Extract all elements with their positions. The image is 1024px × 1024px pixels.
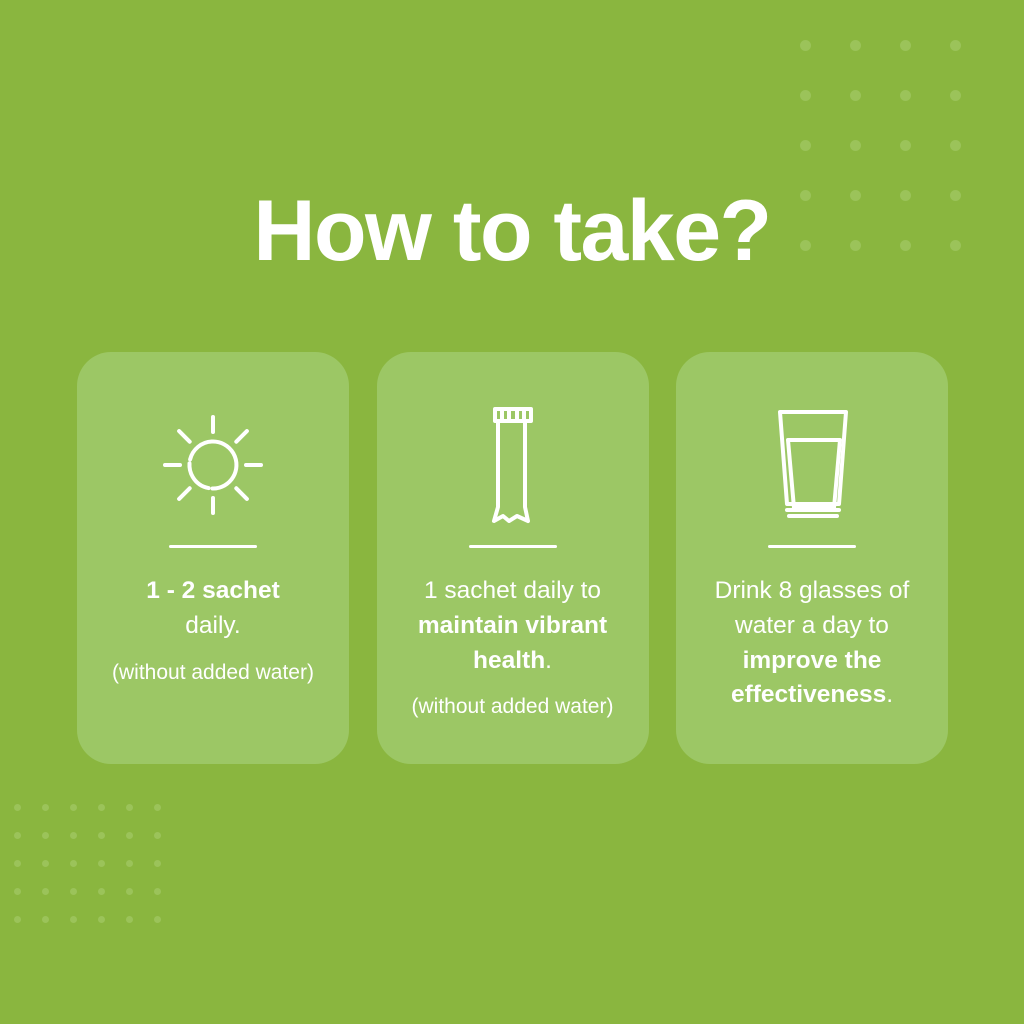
card-2-line1: 1 sachet daily to [424,577,601,604]
decorative-dot [950,140,961,151]
dot-grid-bottom-left [14,804,204,944]
decorative-dot [800,90,811,101]
decorative-dot [42,804,49,811]
page-title: How to take? [0,186,1024,276]
decorative-dot [126,860,133,867]
decorative-dot [900,140,911,151]
decorative-dot [42,916,49,923]
decorative-dot [42,860,49,867]
decorative-dot [70,888,77,895]
decorative-dot [14,888,21,895]
sun-icon [161,392,265,537]
card-3-text: Drink 8 glasses of water a day to improv… [676,574,948,713]
decorative-dot [950,40,961,51]
decorative-dot [98,888,105,895]
decorative-dot [42,832,49,839]
instruction-cards: 1 - 2 sachet daily. (without added water… [77,352,948,764]
decorative-dot [850,140,861,151]
card-1-line2: daily. [185,612,240,639]
decorative-dot [98,916,105,923]
decorative-dot [126,888,133,895]
decorative-dot [154,916,161,923]
decorative-dot [800,40,811,51]
decorative-dot [126,916,133,923]
decorative-dot [900,90,911,101]
card-3-line1: Drink 8 glasses of water a day to [715,577,910,639]
card-1-line1: 1 - 2 sachet [146,577,279,604]
instruction-card-1[interactable]: 1 - 2 sachet daily. (without added water… [77,352,349,764]
card-1-note: (without added water) [106,658,320,687]
card-2-note: (without added water) [406,692,620,721]
card-divider [768,545,856,548]
decorative-dot [900,40,911,51]
decorative-dot [14,916,21,923]
decorative-dot [126,832,133,839]
card-3-line2-tail: . [886,681,893,708]
card-2-text: 1 sachet daily to maintain vibrant healt… [377,574,649,678]
decorative-dot [850,40,861,51]
card-divider [469,545,557,548]
decorative-dot [98,832,105,839]
decorative-dot [800,140,811,151]
instruction-card-3[interactable]: Drink 8 glasses of water a day to improv… [676,352,948,764]
decorative-dot [98,804,105,811]
card-divider [169,545,257,548]
decorative-dot [14,860,21,867]
decorative-dot [154,888,161,895]
decorative-dot [70,916,77,923]
card-1-text: 1 - 2 sachet daily. [77,574,349,644]
card-2-line2-tail: . [545,647,552,674]
decorative-dot [14,804,21,811]
instruction-card-2[interactable]: 1 sachet daily to maintain vibrant healt… [377,352,649,764]
card-3-line2: improve the effectiveness [731,647,886,709]
decorative-dot [950,90,961,101]
decorative-dot [70,804,77,811]
card-2-line2: maintain vibrant health [418,612,607,674]
poster-canvas: How to take? 1 - 2 sachet [0,0,1024,1024]
decorative-dot [126,804,133,811]
sachet-icon [478,392,548,537]
water-glass-icon [766,392,858,537]
decorative-dot [70,832,77,839]
decorative-dot [98,860,105,867]
decorative-dot [850,90,861,101]
decorative-dot [70,860,77,867]
decorative-dot [154,860,161,867]
decorative-dot [154,804,161,811]
decorative-dot [14,832,21,839]
decorative-dot [154,832,161,839]
decorative-dot [42,888,49,895]
